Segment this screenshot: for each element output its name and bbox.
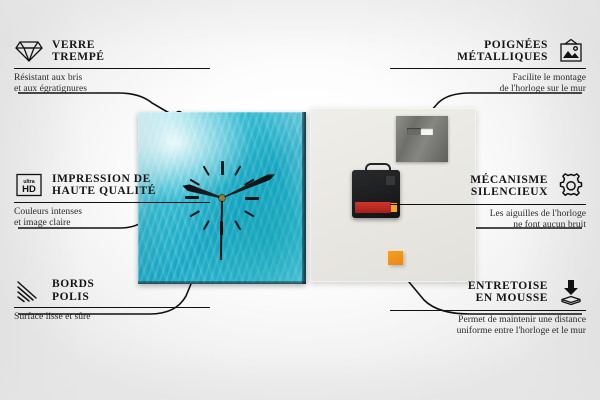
feature-rule	[14, 202, 210, 203]
foam-spacer-square	[388, 251, 403, 265]
feature-description: Surface lisse et sûre	[14, 311, 210, 322]
hand-center-cap	[219, 195, 225, 201]
feature-description: Permet de maintenir une distance uniform…	[390, 314, 586, 337]
hanger-slot	[407, 128, 433, 135]
feature-entretoise-en-mousse: ENTRETOISE EN MOUSSE Permet de maintenir…	[390, 278, 586, 337]
diamond-icon	[14, 38, 44, 64]
feature-mecanisme-silencieux: MÉCANISME SILENCIEUX Les aiguilles de l'…	[390, 172, 586, 231]
feature-title: POIGNÉES MÉTALLIQUES	[457, 39, 548, 64]
ultra-hd-icon: ultra HD	[14, 172, 44, 198]
feature-rule	[390, 68, 586, 69]
metal-hanger-plate	[396, 116, 448, 162]
picture-hanger-icon	[556, 38, 586, 64]
feature-rule	[14, 307, 210, 308]
feature-title: ENTRETOISE EN MOUSSE	[468, 280, 548, 305]
feature-impression-haute-qualite: ultra HD IMPRESSION DE HAUTE QUALITÉ Cou…	[14, 172, 210, 229]
infographic-canvas: VERRE TREMPÉ Résistant aux bris et aux é…	[0, 0, 600, 400]
feature-title: MÉCANISME SILENCIEUX	[470, 174, 548, 199]
battery	[355, 202, 391, 213]
feature-rule	[14, 68, 210, 69]
feature-bords-polis: BORDS POLIS Surface lisse et sûre	[14, 278, 210, 322]
feature-rule	[390, 204, 586, 205]
feature-description: Couleurs intenses et image claire	[14, 206, 210, 229]
feature-title: IMPRESSION DE HAUTE QUALITÉ	[52, 173, 156, 198]
feature-description: Résistant aux bris et aux égratignures	[14, 72, 210, 95]
feature-description: Facilite le montage de l'horloge sur le …	[390, 72, 586, 95]
feature-verre-trempe: VERRE TREMPÉ Résistant aux bris et aux é…	[14, 38, 210, 95]
feature-title: VERRE TREMPÉ	[52, 39, 105, 64]
foam-spacer-icon	[556, 278, 586, 306]
clock-right-edge	[302, 112, 306, 284]
feature-poignees-metalliques: POIGNÉES MÉTALLIQUES Facilite le montage…	[390, 38, 586, 95]
mechanism-hook	[365, 163, 391, 177]
feature-rule	[390, 310, 586, 311]
feature-description: Les aiguilles de l'horloge ne font aucun…	[390, 208, 586, 231]
feature-title: BORDS POLIS	[52, 278, 94, 303]
polished-edges-icon	[14, 279, 44, 303]
svg-text:HD: HD	[22, 184, 36, 195]
gear-icon	[556, 172, 586, 200]
